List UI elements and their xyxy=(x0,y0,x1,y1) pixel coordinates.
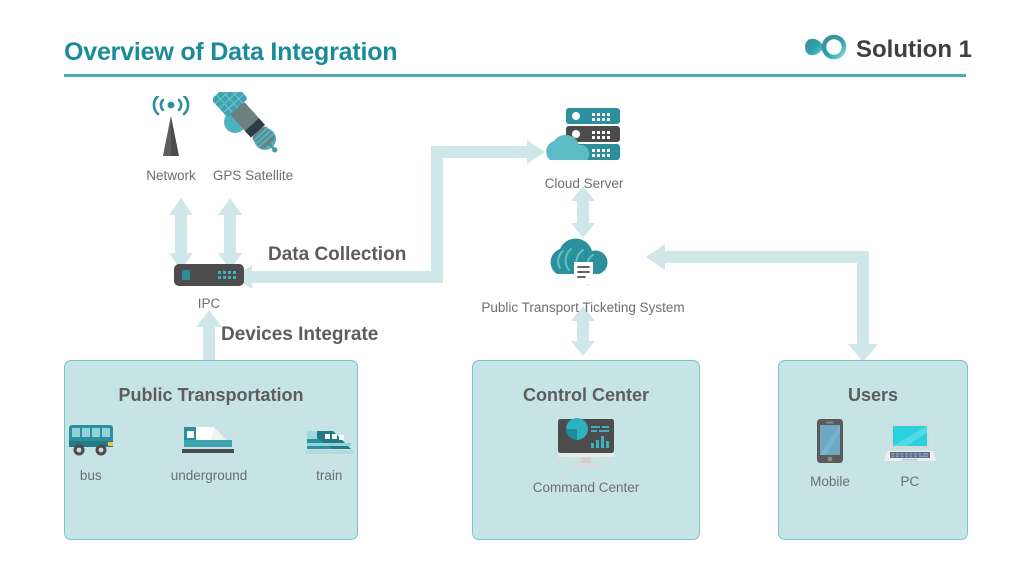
item-mobile-label: Mobile xyxy=(810,474,850,489)
brand: Solution 1 xyxy=(802,32,972,67)
bus-icon xyxy=(67,423,115,462)
slide-canvas: Overview of Data Integration Solution 1 xyxy=(0,0,1030,579)
satellite-icon xyxy=(213,92,293,163)
node-gps-satellite-label: GPS Satellite xyxy=(213,168,293,183)
underground-train-icon xyxy=(180,423,238,462)
item-mobile[interactable]: Mobile xyxy=(810,419,850,489)
item-underground-label: underground xyxy=(171,468,248,483)
brand-name: Solution 1 xyxy=(856,36,972,64)
laptop-icon xyxy=(884,423,936,468)
node-gps-satellite[interactable]: GPS Satellite xyxy=(208,92,298,183)
panel-control-center[interactable]: Control Center xyxy=(472,360,700,540)
smartphone-icon xyxy=(817,419,843,468)
flow-label-devices-integrate: Devices Integrate xyxy=(221,324,378,346)
panel-users-title: Users xyxy=(779,385,967,406)
item-bus[interactable]: bus xyxy=(67,423,115,483)
panel-public-transportation[interactable]: Public Transportation xyxy=(64,360,358,540)
antenna-tower-icon xyxy=(148,96,194,163)
train-icon xyxy=(303,423,355,462)
item-pc-label: PC xyxy=(901,474,920,489)
item-train[interactable]: train xyxy=(303,423,355,483)
node-cloud-server[interactable]: Cloud Server xyxy=(520,104,648,191)
monitor-dashboard-icon xyxy=(555,417,617,474)
panel-users[interactable]: Users Mobile xyxy=(778,360,968,540)
cloud-server-icon xyxy=(544,104,624,171)
node-ipc-label: IPC xyxy=(198,296,221,311)
node-ipc[interactable]: IPC xyxy=(166,264,252,311)
panel-control-center-title: Control Center xyxy=(473,385,699,406)
connector-ipc-network xyxy=(169,198,193,270)
panel-control-center-items: Command Center xyxy=(473,417,699,495)
item-train-label: train xyxy=(316,468,342,483)
page-title: Overview of Data Integration xyxy=(64,38,397,67)
node-ticketing-system-label: Public Transport Ticketing System xyxy=(481,300,684,315)
flow-label-data-collection: Data Collection xyxy=(268,244,406,266)
connector-ipc-gps xyxy=(218,198,242,270)
panel-users-items: Mobile xyxy=(779,419,967,489)
infinity-logo-icon xyxy=(802,32,848,67)
item-command-center-label: Command Center xyxy=(533,480,640,495)
connector-transport-to-ipc xyxy=(196,310,222,360)
ipc-device-icon xyxy=(174,264,244,291)
title-underline xyxy=(64,74,966,77)
item-command-center[interactable]: Command Center xyxy=(533,417,640,495)
node-ticketing-system[interactable]: Public Transport Ticketing System xyxy=(443,228,723,315)
item-pc[interactable]: PC xyxy=(884,423,936,489)
cloud-ticket-icon xyxy=(547,228,619,295)
node-network[interactable]: Network xyxy=(140,96,202,183)
node-cloud-server-label: Cloud Server xyxy=(545,176,624,191)
item-underground[interactable]: underground xyxy=(171,423,248,483)
node-network-label: Network xyxy=(146,168,196,183)
panel-public-transportation-items: bus underground xyxy=(65,423,357,483)
item-bus-label: bus xyxy=(80,468,102,483)
panel-public-transportation-title: Public Transportation xyxy=(65,385,357,406)
